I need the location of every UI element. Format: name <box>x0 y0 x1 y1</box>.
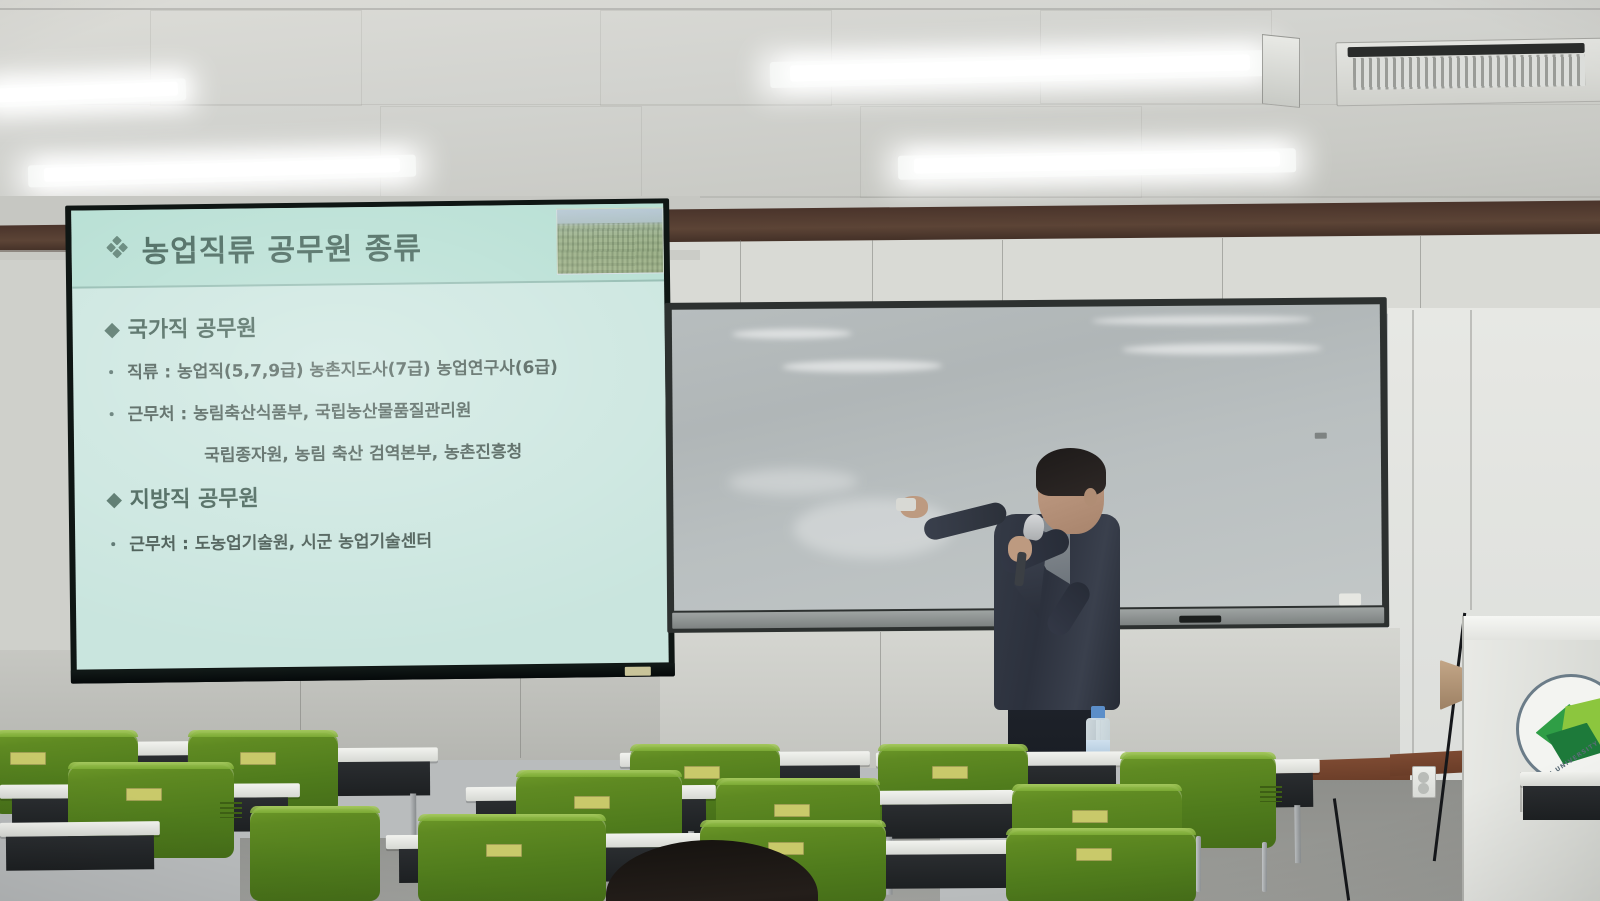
slide-bullet-1-2: 근무처 : 농림축산식품부, 국립농산물품질관리원 <box>109 396 471 425</box>
whiteboard-marker <box>1179 615 1221 622</box>
chair-label <box>126 788 162 801</box>
slide-continuation-1: 국립종자원, 농림 축산 검역본부, 농촌진흥청 <box>204 437 522 466</box>
slide-bullet-1-1: 직류 : 농업직(5,7,9급) 농촌지도사(7급) 농업연구사(6급) <box>109 353 558 383</box>
chair-label <box>1076 848 1112 861</box>
slide-section-heading-1: 국가직 공무원 <box>106 310 256 344</box>
chair-label <box>932 766 968 779</box>
diamond-bullet-icon <box>104 323 120 339</box>
whiteboard-eraser <box>1339 593 1361 605</box>
chair-label <box>774 804 810 817</box>
daegu-university-emblem: DAEGU UNIVERSITY <box>1516 674 1600 784</box>
chair-label <box>574 796 610 809</box>
wall-seam <box>1470 310 1472 610</box>
slide-title: 농업직류 공무원 종류 <box>141 223 422 270</box>
ceiling-tile <box>600 10 832 106</box>
dot-bullet-icon <box>109 370 113 374</box>
podium-top <box>1464 616 1600 640</box>
four-diamond-icon <box>107 237 127 257</box>
slide-thumbnail-image <box>556 207 664 274</box>
desk <box>0 821 160 875</box>
projection-screen: 농업직류 공무원 종류 국가직 공무원 직류 : 농업직(5,7,9급) 농촌지… <box>65 198 675 683</box>
ac-vent <box>1335 38 1600 107</box>
presenter-hair <box>1036 448 1106 496</box>
desk <box>1520 772 1600 824</box>
chair <box>1006 828 1196 901</box>
slide-bullet-2-1: 근무처 : 도농업기술원, 시군 농업기술센터 <box>111 526 432 555</box>
screen-pull-tab <box>625 667 651 676</box>
chair-leg <box>1196 836 1201 892</box>
chair-label <box>240 752 276 765</box>
wall-panel-divider <box>880 632 881 762</box>
power-outlet <box>1412 766 1436 798</box>
chair <box>418 814 606 901</box>
wall-seam <box>1412 310 1414 780</box>
chair-label <box>1072 810 1108 823</box>
chair-label <box>486 844 522 857</box>
slide-section-heading-2: 지방직 공무원 <box>108 480 258 514</box>
lecture-hall-scene: 농업직류 공무원 종류 국가직 공무원 직류 : 농업직(5,7,9급) 농촌지… <box>0 0 1600 901</box>
dot-bullet-icon <box>110 412 114 416</box>
presenter <box>980 452 1180 772</box>
ac-vent-tab <box>1262 34 1300 108</box>
chair-label <box>684 766 720 779</box>
slide-content: 농업직류 공무원 종류 국가직 공무원 직류 : 농업직(5,7,9급) 농촌지… <box>71 203 669 669</box>
diamond-bullet-icon <box>106 493 122 509</box>
chair <box>250 806 380 901</box>
ceiling-tile <box>380 106 642 198</box>
wall-panel-divider <box>1420 236 1421 310</box>
presenter-ear <box>1084 488 1097 506</box>
presentation-clicker <box>896 498 916 511</box>
chair-leg <box>1262 842 1267 892</box>
podium: DAEGU UNIVERSITY <box>1462 616 1600 901</box>
chair-label <box>10 752 46 765</box>
dot-bullet-icon <box>111 542 115 546</box>
